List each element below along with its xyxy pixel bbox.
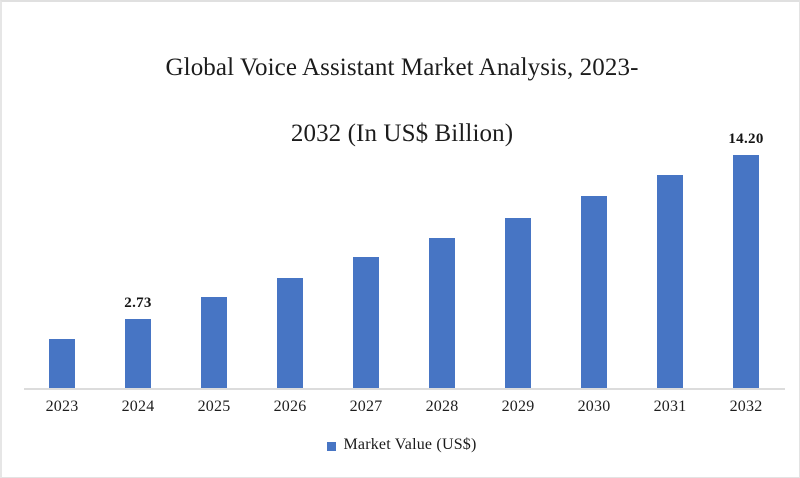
category-label-2031: 2031 [632, 398, 708, 416]
bar-2030[interactable] [581, 196, 607, 388]
category-label-2027: 2027 [328, 398, 404, 416]
bar-2027[interactable] [353, 257, 379, 388]
bar-2026[interactable] [277, 278, 303, 388]
bar-value-label-2024: 2.73 [124, 295, 151, 312]
legend-swatch-icon [327, 442, 336, 451]
bar-slot-2025 [176, 112, 252, 388]
legend-label-market-value: Market Value (US$) [343, 436, 476, 454]
bar-2029[interactable] [505, 218, 531, 388]
bar-2032[interactable] [733, 155, 759, 388]
category-label-2028: 2028 [404, 398, 480, 416]
chart-title-line-1: Global Voice Assistant Market Analysis, … [166, 54, 639, 81]
category-label-2029: 2029 [480, 398, 556, 416]
bar-2028[interactable] [429, 238, 455, 388]
bar-2031[interactable] [657, 175, 683, 388]
bar-slot-2028 [404, 112, 480, 388]
category-axis: 2023 2024 2025 2026 2027 2028 2029 2030 … [24, 398, 785, 424]
category-label-2026: 2026 [252, 398, 328, 416]
plot-area: 2.73 [24, 112, 785, 390]
category-label-2032: 2032 [708, 398, 784, 416]
bar-slot-2029 [480, 112, 556, 388]
bar-2023[interactable] [49, 339, 75, 388]
bar-slot-2026 [252, 112, 328, 388]
bar-value-label-2032: 14.20 [728, 131, 763, 148]
chart-legend: Market Value (US$) [2, 436, 800, 454]
bar-slot-2027 [328, 112, 404, 388]
chart-container: Global Voice Assistant Market Analysis, … [0, 0, 800, 478]
bar-slot-2023 [24, 112, 100, 388]
bar-slot-2032: 14.20 [708, 112, 784, 388]
category-label-2024: 2024 [100, 398, 176, 416]
bar-slot-2030 [556, 112, 632, 388]
bar-slot-2031 [632, 112, 708, 388]
category-label-2030: 2030 [556, 398, 632, 416]
legend-entry-market-value[interactable]: Market Value (US$) [327, 436, 476, 454]
category-label-2023: 2023 [24, 398, 100, 416]
bar-2025[interactable] [201, 297, 227, 388]
bar-2024[interactable] [125, 319, 151, 388]
category-label-2025: 2025 [176, 398, 252, 416]
bar-slot-2024: 2.73 [100, 112, 176, 388]
category-axis-line [24, 388, 785, 390]
